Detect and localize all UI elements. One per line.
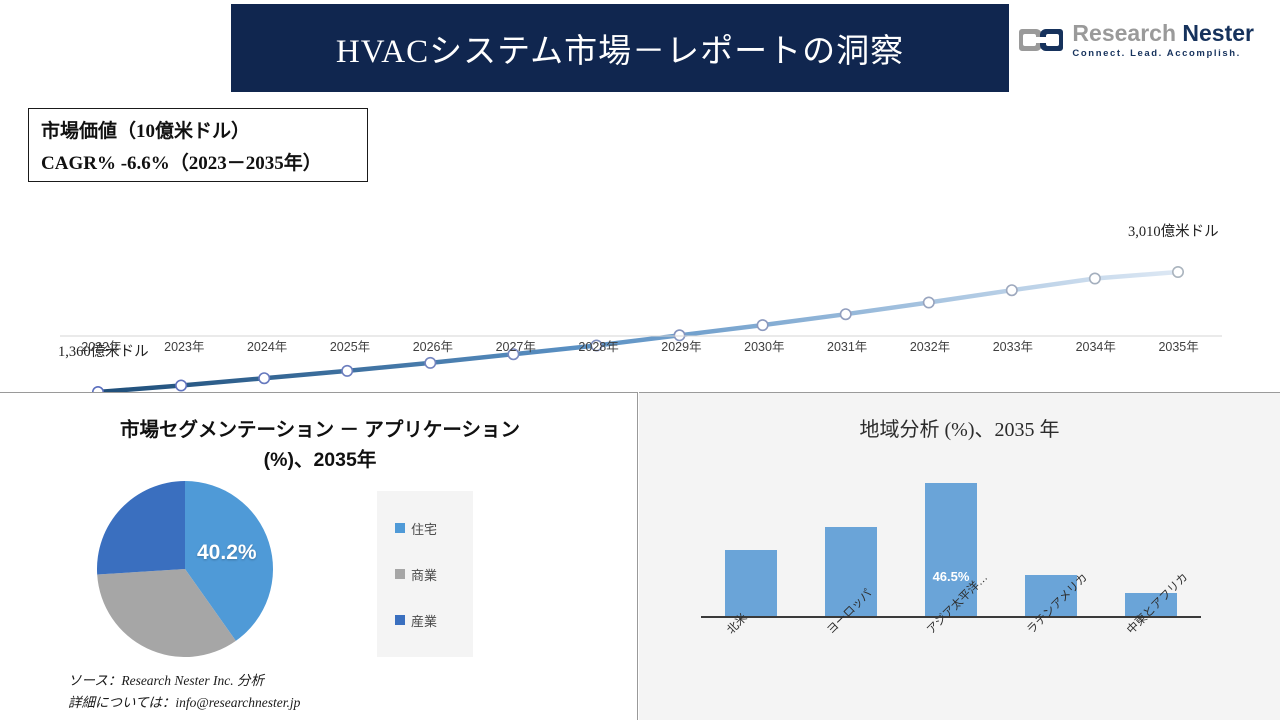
line-marker bbox=[924, 297, 934, 307]
header: HVACシステム市場－レポートの洞察 Research Nester Conne… bbox=[0, 0, 1280, 96]
x-axis-tick: 2022年 bbox=[60, 336, 143, 374]
market-value-line1: 市場価値（10億米ドル） bbox=[41, 116, 367, 143]
pie-slice[interactable] bbox=[97, 481, 185, 575]
regional-analysis-title: 地域分析 (%)、2035 年 bbox=[639, 413, 1280, 442]
pie-chart: 40.2% bbox=[92, 481, 278, 657]
x-axis-tick: 2035年 bbox=[1137, 336, 1220, 374]
x-axis-tick: 2031年 bbox=[806, 336, 889, 374]
bar-slot: 46.5% bbox=[905, 460, 997, 616]
brand-logo: Research Nester Connect. Lead. Accomplis… bbox=[1019, 22, 1254, 59]
pie-legend: 住宅商業産業 bbox=[377, 491, 473, 657]
x-axis-tick: 2030年 bbox=[723, 336, 806, 374]
logo-wordmark: Research Nester Connect. Lead. Accomplis… bbox=[1072, 22, 1254, 59]
bar-0[interactable] bbox=[725, 550, 777, 616]
segmentation-title-line1: 市場セグメンテーション － アプリケーション bbox=[120, 419, 520, 441]
line-marker bbox=[259, 373, 269, 383]
x-axis-tick: 2025年 bbox=[309, 336, 392, 374]
x-axis-tick: 2034年 bbox=[1054, 336, 1137, 374]
line-marker bbox=[1173, 267, 1183, 277]
legend-label: 住宅 bbox=[411, 519, 437, 538]
legend-label: 商業 bbox=[411, 565, 437, 584]
contact-line: 詳細については：info@researchnester.jp bbox=[68, 692, 488, 714]
x-axis-tick: 2033年 bbox=[971, 336, 1054, 374]
bar-label-slot: ラテンアメリカ bbox=[1005, 618, 1097, 698]
pie-legend-item-2[interactable]: 産業 bbox=[395, 611, 473, 630]
market-value-callout-box: 市場価値（10億米ドル） CAGR% -6.6%（2023－2035年） bbox=[28, 108, 368, 182]
line-marker bbox=[1007, 285, 1017, 295]
x-axis-tick: 2024年 bbox=[226, 336, 309, 374]
bar-label-slot: アジア太平洋… bbox=[905, 618, 997, 698]
title-banner: HVACシステム市場－レポートの洞察 bbox=[231, 4, 1009, 92]
logo-name-nester: Nester bbox=[1182, 20, 1254, 46]
legend-label: 産業 bbox=[411, 611, 437, 630]
bar-slot bbox=[705, 460, 797, 616]
bar-slot bbox=[1105, 460, 1197, 616]
line-marker bbox=[757, 320, 767, 330]
bar-slot bbox=[805, 460, 897, 616]
logo-tagline: Connect. Lead. Accomplish. bbox=[1072, 49, 1254, 59]
line-chart-x-axis: 2022年2023年2024年2025年2026年2027年2028年2029年… bbox=[60, 336, 1220, 374]
market-value-line2: CAGR% -6.6%（2023－2035年） bbox=[41, 148, 367, 175]
segmentation-title: 市場セグメンテーション － アプリケーション (%)、2035年 bbox=[50, 415, 590, 475]
pie-chart-svg bbox=[92, 481, 278, 657]
line-marker bbox=[1090, 273, 1100, 283]
logo-name-research: Research bbox=[1072, 20, 1176, 46]
pie-legend-item-0[interactable]: 住宅 bbox=[395, 519, 473, 538]
x-axis-tick: 2023年 bbox=[143, 336, 226, 374]
bar-label-slot: 北米 bbox=[705, 618, 797, 698]
infographic-page: HVACシステム市場－レポートの洞察 Research Nester Conne… bbox=[0, 0, 1280, 720]
source-footnote: ソース：Research Nester Inc. 分析 詳細については：info… bbox=[68, 670, 488, 713]
linked-chain-logo-icon bbox=[1019, 23, 1063, 57]
bar-chart-category-labels: 北米ヨーロッパアジア太平洋…ラテンアメリカ中東とアフリカ bbox=[701, 618, 1201, 698]
regional-bar-chart: 46.5% bbox=[701, 460, 1201, 616]
page-title: HVACシステム市場－レポートの洞察 bbox=[336, 24, 904, 72]
legend-swatch-icon bbox=[395, 615, 405, 625]
regional-bars: 46.5% bbox=[701, 460, 1201, 616]
legend-swatch-icon bbox=[395, 569, 405, 579]
legend-swatch-icon bbox=[395, 523, 405, 533]
segmentation-title-line2: (%)、2035年 bbox=[50, 445, 590, 475]
bar-slot bbox=[1005, 460, 1097, 616]
pie-legend-item-1[interactable]: 商業 bbox=[395, 565, 473, 584]
x-axis-tick: 2032年 bbox=[889, 336, 972, 374]
x-axis-tick: 2028年 bbox=[557, 336, 640, 374]
x-axis-tick: 2027年 bbox=[474, 336, 557, 374]
source-line: ソース：Research Nester Inc. 分析 bbox=[68, 670, 488, 692]
line-marker bbox=[841, 309, 851, 319]
x-axis-tick: 2029年 bbox=[640, 336, 723, 374]
logo-name: Research Nester bbox=[1072, 22, 1254, 45]
x-axis-tick: 2026年 bbox=[391, 336, 474, 374]
bar-value-label: 46.5% bbox=[933, 569, 970, 584]
market-value-line-chart-panel: 市場価値（10億米ドル） CAGR% -6.6%（2023－2035年） 1,3… bbox=[0, 96, 1280, 392]
pie-slices bbox=[97, 481, 273, 657]
bar-label-slot: ヨーロッパ bbox=[805, 618, 897, 698]
bar-label-slot: 中東とアフリカ bbox=[1105, 618, 1197, 698]
line-marker bbox=[176, 380, 186, 390]
